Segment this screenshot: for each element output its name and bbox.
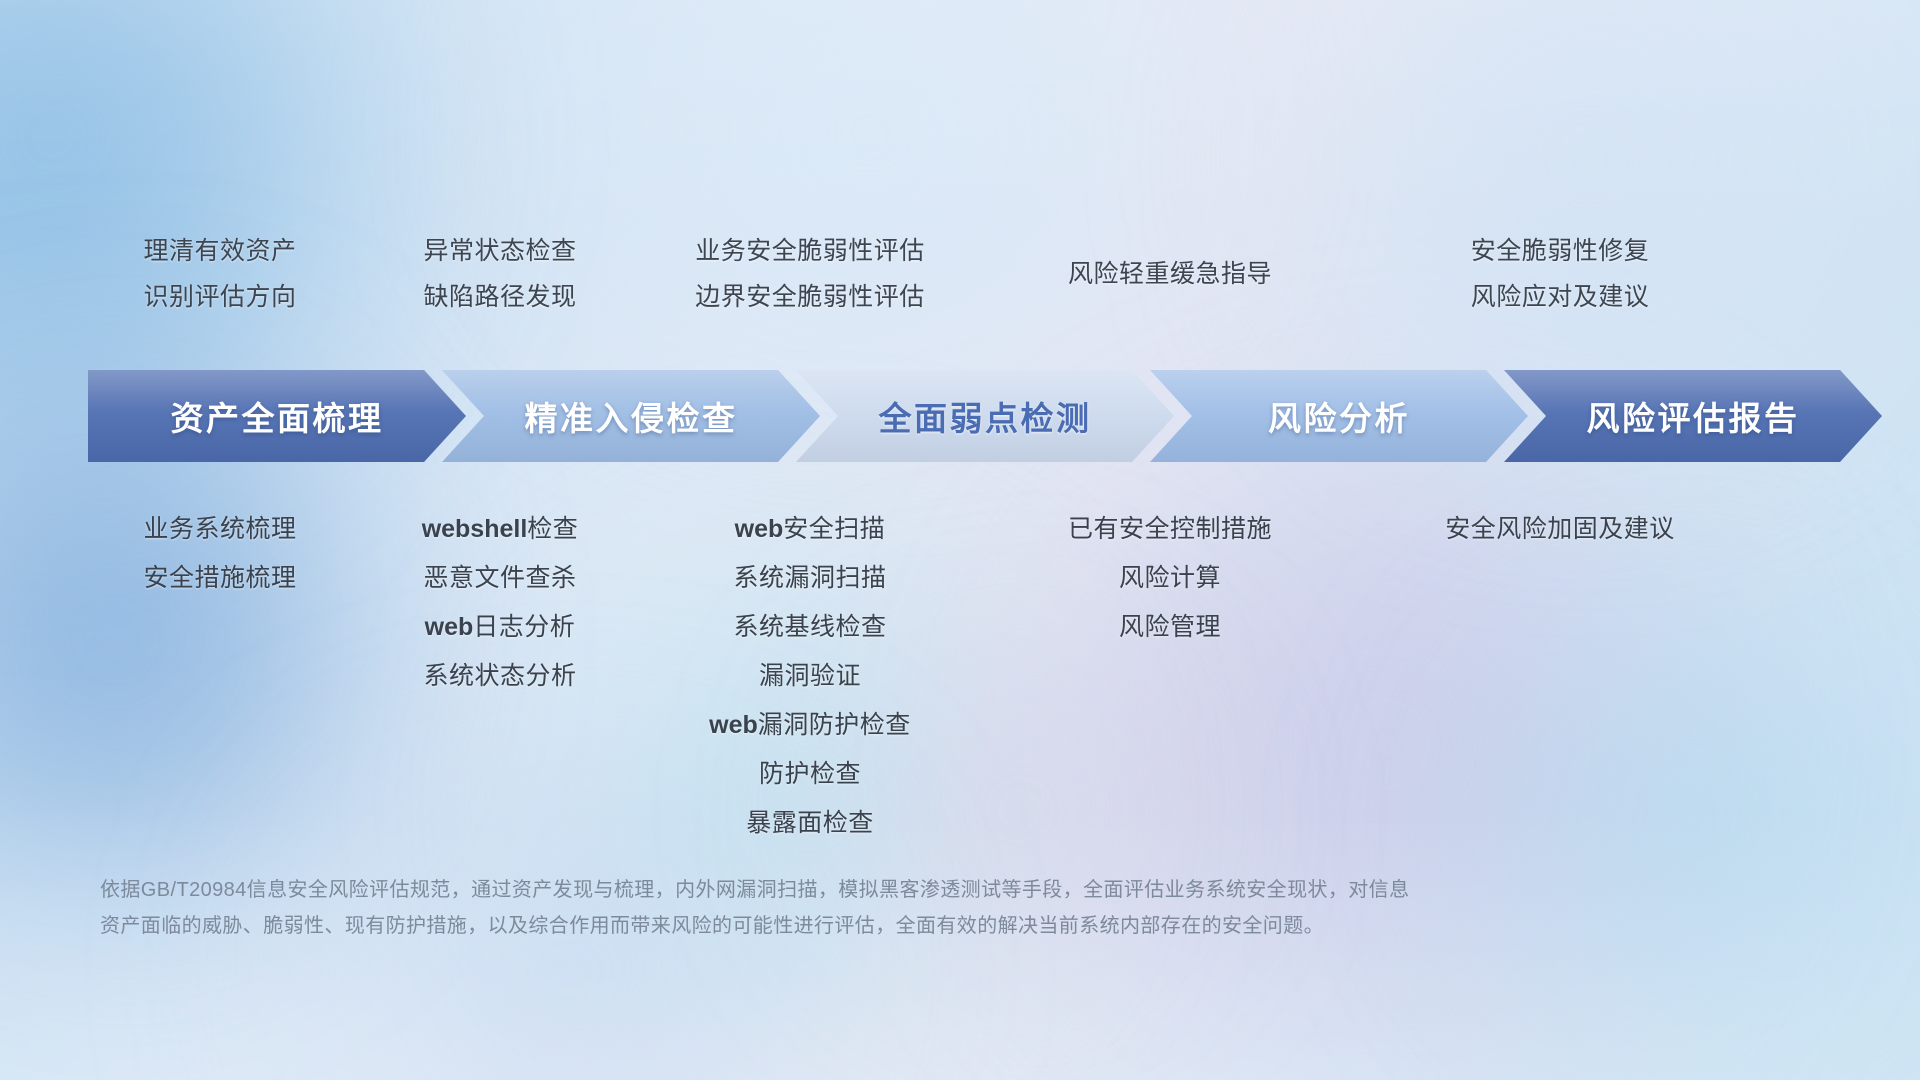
bottom-item: 恶意文件查杀 [340, 554, 660, 603]
top-items-weakness-detection: 业务安全脆弱性评估边界安全脆弱性评估 [620, 228, 1000, 320]
top-item: 风险轻重缓急指导 [1000, 251, 1340, 297]
footer-description: 依据GB/T20984信息安全风险评估规范，通过资产发现与梳理，内外网漏洞扫描，… [100, 872, 1660, 944]
stage-chevron-asset-inventory[interactable]: 资产全面梳理 [88, 370, 466, 462]
top-item: 识别评估方向 [60, 274, 380, 320]
bottom-item: 业务系统梳理 [60, 505, 380, 554]
stage-label: 资产全面梳理 [171, 392, 384, 440]
top-item: 风险应对及建议 [1390, 274, 1730, 320]
top-item: 异常状态检查 [340, 228, 660, 274]
top-item: 安全脆弱性修复 [1390, 228, 1730, 274]
bottom-item: 风险计算 [1000, 554, 1340, 603]
stage-label: 精准入侵检查 [525, 392, 738, 440]
stage-label: 风险评估报告 [1587, 392, 1800, 440]
bottom-item: 系统基线检查 [620, 603, 1000, 652]
top-items-assessment-report: 安全脆弱性修复风险应对及建议 [1390, 228, 1730, 320]
footer-line-2: 资产面临的威胁、脆弱性、现有防护措施，以及综合作用而带来风险的可能性进行评估，全… [100, 908, 1660, 944]
bottom-item: 安全风险加固及建议 [1390, 505, 1730, 554]
top-items-asset-inventory: 理清有效资产识别评估方向 [60, 228, 380, 320]
bottom-items-asset-inventory: 业务系统梳理安全措施梳理 [60, 505, 380, 603]
bottom-item: 已有安全控制措施 [1000, 505, 1340, 554]
bottom-item: 漏洞验证 [620, 652, 1000, 701]
bottom-item: 防护检查 [620, 750, 1000, 799]
stage-chevron-risk-analysis[interactable]: 风险分析 [1150, 370, 1528, 462]
bottom-item: 系统状态分析 [340, 652, 660, 701]
top-items-risk-analysis: 风险轻重缓急指导 [1000, 251, 1340, 297]
bottom-item: 暴露面检查 [620, 799, 1000, 848]
bottom-item: web安全扫描 [620, 505, 1000, 554]
bottom-item: web日志分析 [340, 603, 660, 652]
bottom-item: web漏洞防护检查 [620, 701, 1000, 750]
top-item: 业务安全脆弱性评估 [620, 228, 1000, 274]
top-items-intrusion-check: 异常状态检查缺陷路径发现 [340, 228, 660, 320]
top-item: 边界安全脆弱性评估 [620, 274, 1000, 320]
process-chevron-band: 资产全面梳理 精准入侵检查 全面弱点检测 风险分析 风险评估报告 [88, 370, 1848, 462]
bottom-items-intrusion-check: webshell检查恶意文件查杀web日志分析系统状态分析 [340, 505, 660, 701]
bottom-item: 风险管理 [1000, 603, 1340, 652]
bottom-item: webshell检查 [340, 505, 660, 554]
stage-label: 风险分析 [1268, 392, 1410, 440]
process-diagram: 理清有效资产识别评估方向 异常状态检查缺陷路径发现 业务安全脆弱性评估边界安全脆… [0, 0, 1920, 1080]
stage-chevron-weakness-detection[interactable]: 全面弱点检测 [796, 370, 1174, 462]
stage-chevron-intrusion-check[interactable]: 精准入侵检查 [442, 370, 820, 462]
bottom-items-risk-analysis: 已有安全控制措施风险计算风险管理 [1000, 505, 1340, 652]
footer-line-1: 依据GB/T20984信息安全风险评估规范，通过资产发现与梳理，内外网漏洞扫描，… [100, 872, 1660, 908]
stage-chevron-assessment-report[interactable]: 风险评估报告 [1504, 370, 1882, 462]
top-item: 缺陷路径发现 [340, 274, 660, 320]
bottom-item: 系统漏洞扫描 [620, 554, 1000, 603]
top-item: 理清有效资产 [60, 228, 380, 274]
bottom-item: 安全措施梳理 [60, 554, 380, 603]
stage-label: 全面弱点检测 [879, 392, 1092, 440]
bottom-items-assessment-report: 安全风险加固及建议 [1390, 505, 1730, 554]
bottom-items-weakness-detection: web安全扫描系统漏洞扫描系统基线检查漏洞验证web漏洞防护检查防护检查暴露面检… [620, 505, 1000, 848]
